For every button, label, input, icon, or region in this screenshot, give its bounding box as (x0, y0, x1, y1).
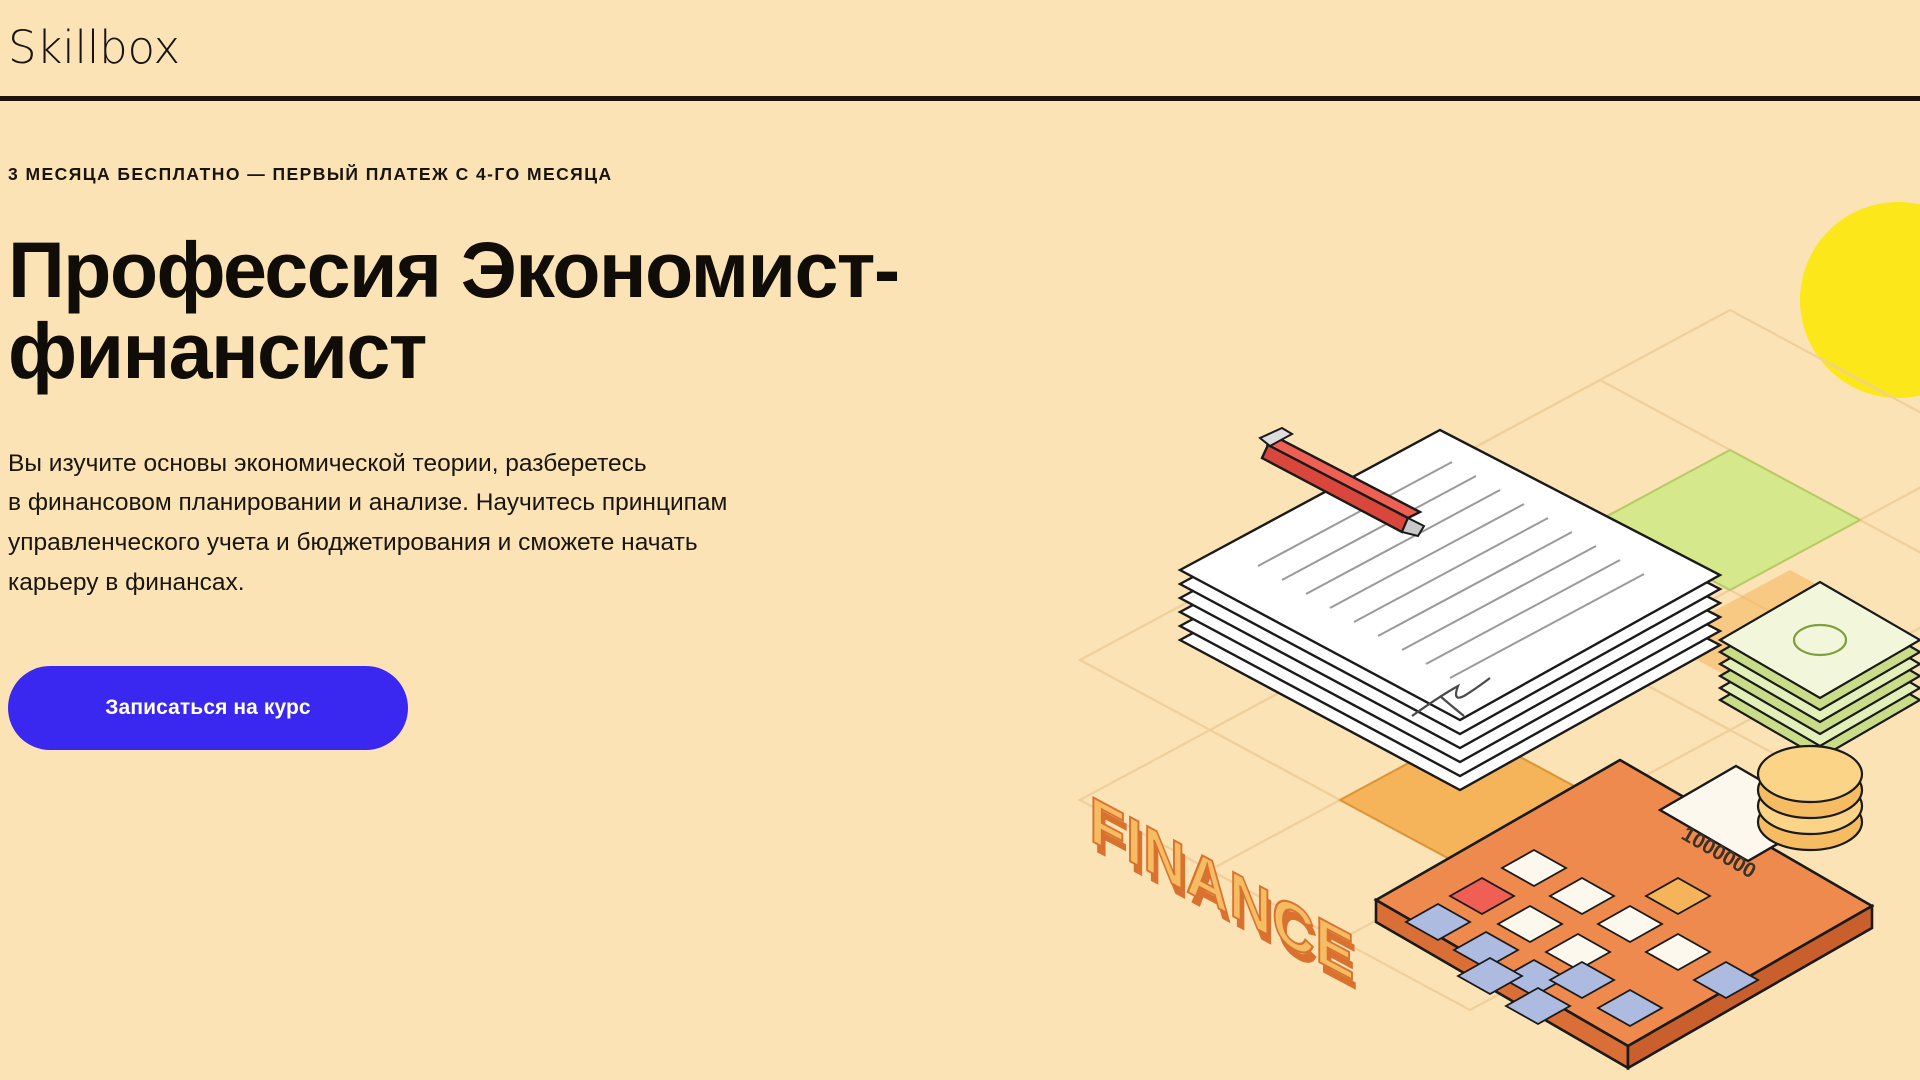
coin-stack-icon (1758, 746, 1862, 850)
hero-section: 3 МЕСЯЦА БЕСПЛАТНО — ПЕРВЫЙ ПЛАТЕЖ С 4-Г… (0, 98, 1920, 1080)
hero-description: Вы изучите основы экономической теории, … (8, 444, 888, 603)
hero-illustration: FINANCE FINANCE (1020, 0, 1920, 1080)
hero-copy: 3 МЕСЯЦА БЕСПЛАТНО — ПЕРВЫЙ ПЛАТЕЖ С 4-Г… (8, 98, 1018, 750)
isometric-finance-scene-icon: FINANCE FINANCE (1020, 0, 1920, 1080)
document-stack-icon (1180, 430, 1720, 790)
hero-description-line: карьеру в финансах. (8, 563, 888, 603)
enroll-course-button[interactable]: Записаться на курс (8, 666, 408, 750)
hero-description-line: Вы изучите основы экономической теории, … (8, 444, 888, 484)
skillbox-wordmark-icon[interactable]: Skillbox (8, 25, 180, 70)
finance-word-icon: FINANCE FINANCE (1090, 782, 1359, 1006)
page-title: Профессия Экономист-финансист (8, 229, 988, 392)
hero-description-line: в финансовом планировании и анализе. Нау… (8, 483, 888, 523)
hero-description-line: управленческого учета и бюджетирования и… (8, 523, 888, 563)
sun-circle-icon (1800, 202, 1920, 398)
promo-eyebrow: 3 МЕСЯЦА БЕСПЛАТНО — ПЕРВЫЙ ПЛАТЕЖ С 4-Г… (8, 164, 1018, 185)
